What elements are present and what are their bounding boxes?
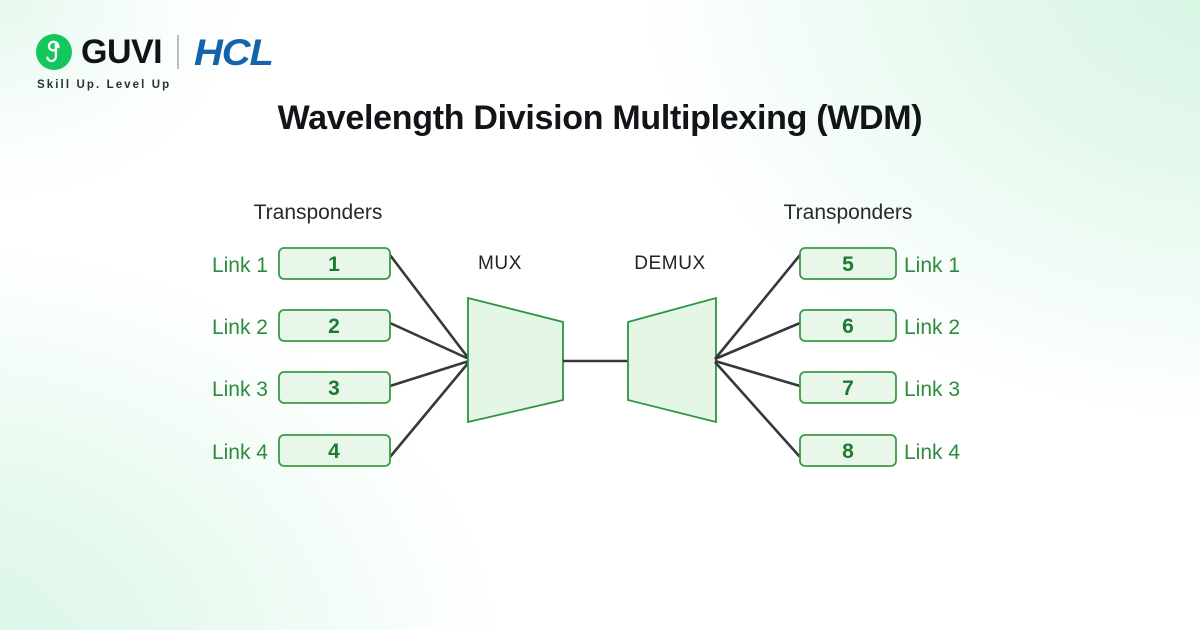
right-transponder-row-1[interactable]: 5 Link 1	[800, 248, 960, 279]
left-transponder-row-1[interactable]: Link 1 1	[212, 248, 390, 279]
left-transponder-row-2[interactable]: Link 2 2	[212, 310, 390, 341]
wire-left-4	[390, 362, 469, 457]
demux-trapezoid[interactable]	[628, 298, 716, 422]
wire-left-1	[390, 255, 469, 359]
right-link-label-2: Link 2	[904, 316, 960, 339]
wire-right-3	[715, 361, 800, 386]
right-wire-group	[715, 255, 800, 457]
left-wire-group	[390, 255, 469, 457]
right-transponders-header: Transponders	[784, 201, 913, 224]
left-channel-number-1: 1	[328, 253, 340, 276]
wire-left-2	[390, 323, 469, 359]
demux-label: DEMUX	[634, 253, 706, 274]
right-channel-number-4: 8	[842, 440, 854, 463]
poster-canvas: GUVI HCL Skill Up. Level Up Wavelength D…	[0, 0, 1200, 630]
right-transponder-row-3[interactable]: 7 Link 3	[800, 372, 960, 403]
wdm-diagram: Transponders Transponders MUX DEMUX Link…	[0, 0, 1200, 630]
left-channel-number-2: 2	[328, 315, 340, 338]
left-channel-number-3: 3	[328, 377, 340, 400]
left-link-label-4: Link 4	[212, 441, 268, 464]
left-transponders-header: Transponders	[254, 201, 383, 224]
left-link-label-2: Link 2	[212, 316, 268, 339]
left-link-label-3: Link 3	[212, 378, 268, 401]
left-channel-number-4: 4	[328, 440, 340, 463]
wire-right-2	[715, 323, 800, 359]
right-link-label-4: Link 4	[904, 441, 960, 464]
right-transponder-row-4[interactable]: 8 Link 4	[800, 435, 960, 466]
wire-right-1	[715, 255, 800, 359]
wire-left-3	[390, 361, 469, 386]
right-channel-number-3: 7	[842, 377, 854, 400]
left-link-label-1: Link 1	[212, 254, 268, 277]
right-transponder-row-2[interactable]: 6 Link 2	[800, 310, 960, 341]
right-channel-number-1: 5	[842, 253, 854, 276]
left-transponder-row-3[interactable]: Link 3 3	[212, 372, 390, 403]
left-transponder-row-4[interactable]: Link 4 4	[212, 435, 390, 466]
mux-label: MUX	[478, 253, 522, 274]
right-link-label-1: Link 1	[904, 254, 960, 277]
wire-right-4	[715, 362, 800, 457]
right-channel-number-2: 6	[842, 315, 854, 338]
right-link-label-3: Link 3	[904, 378, 960, 401]
mux-trapezoid[interactable]	[468, 298, 563, 422]
